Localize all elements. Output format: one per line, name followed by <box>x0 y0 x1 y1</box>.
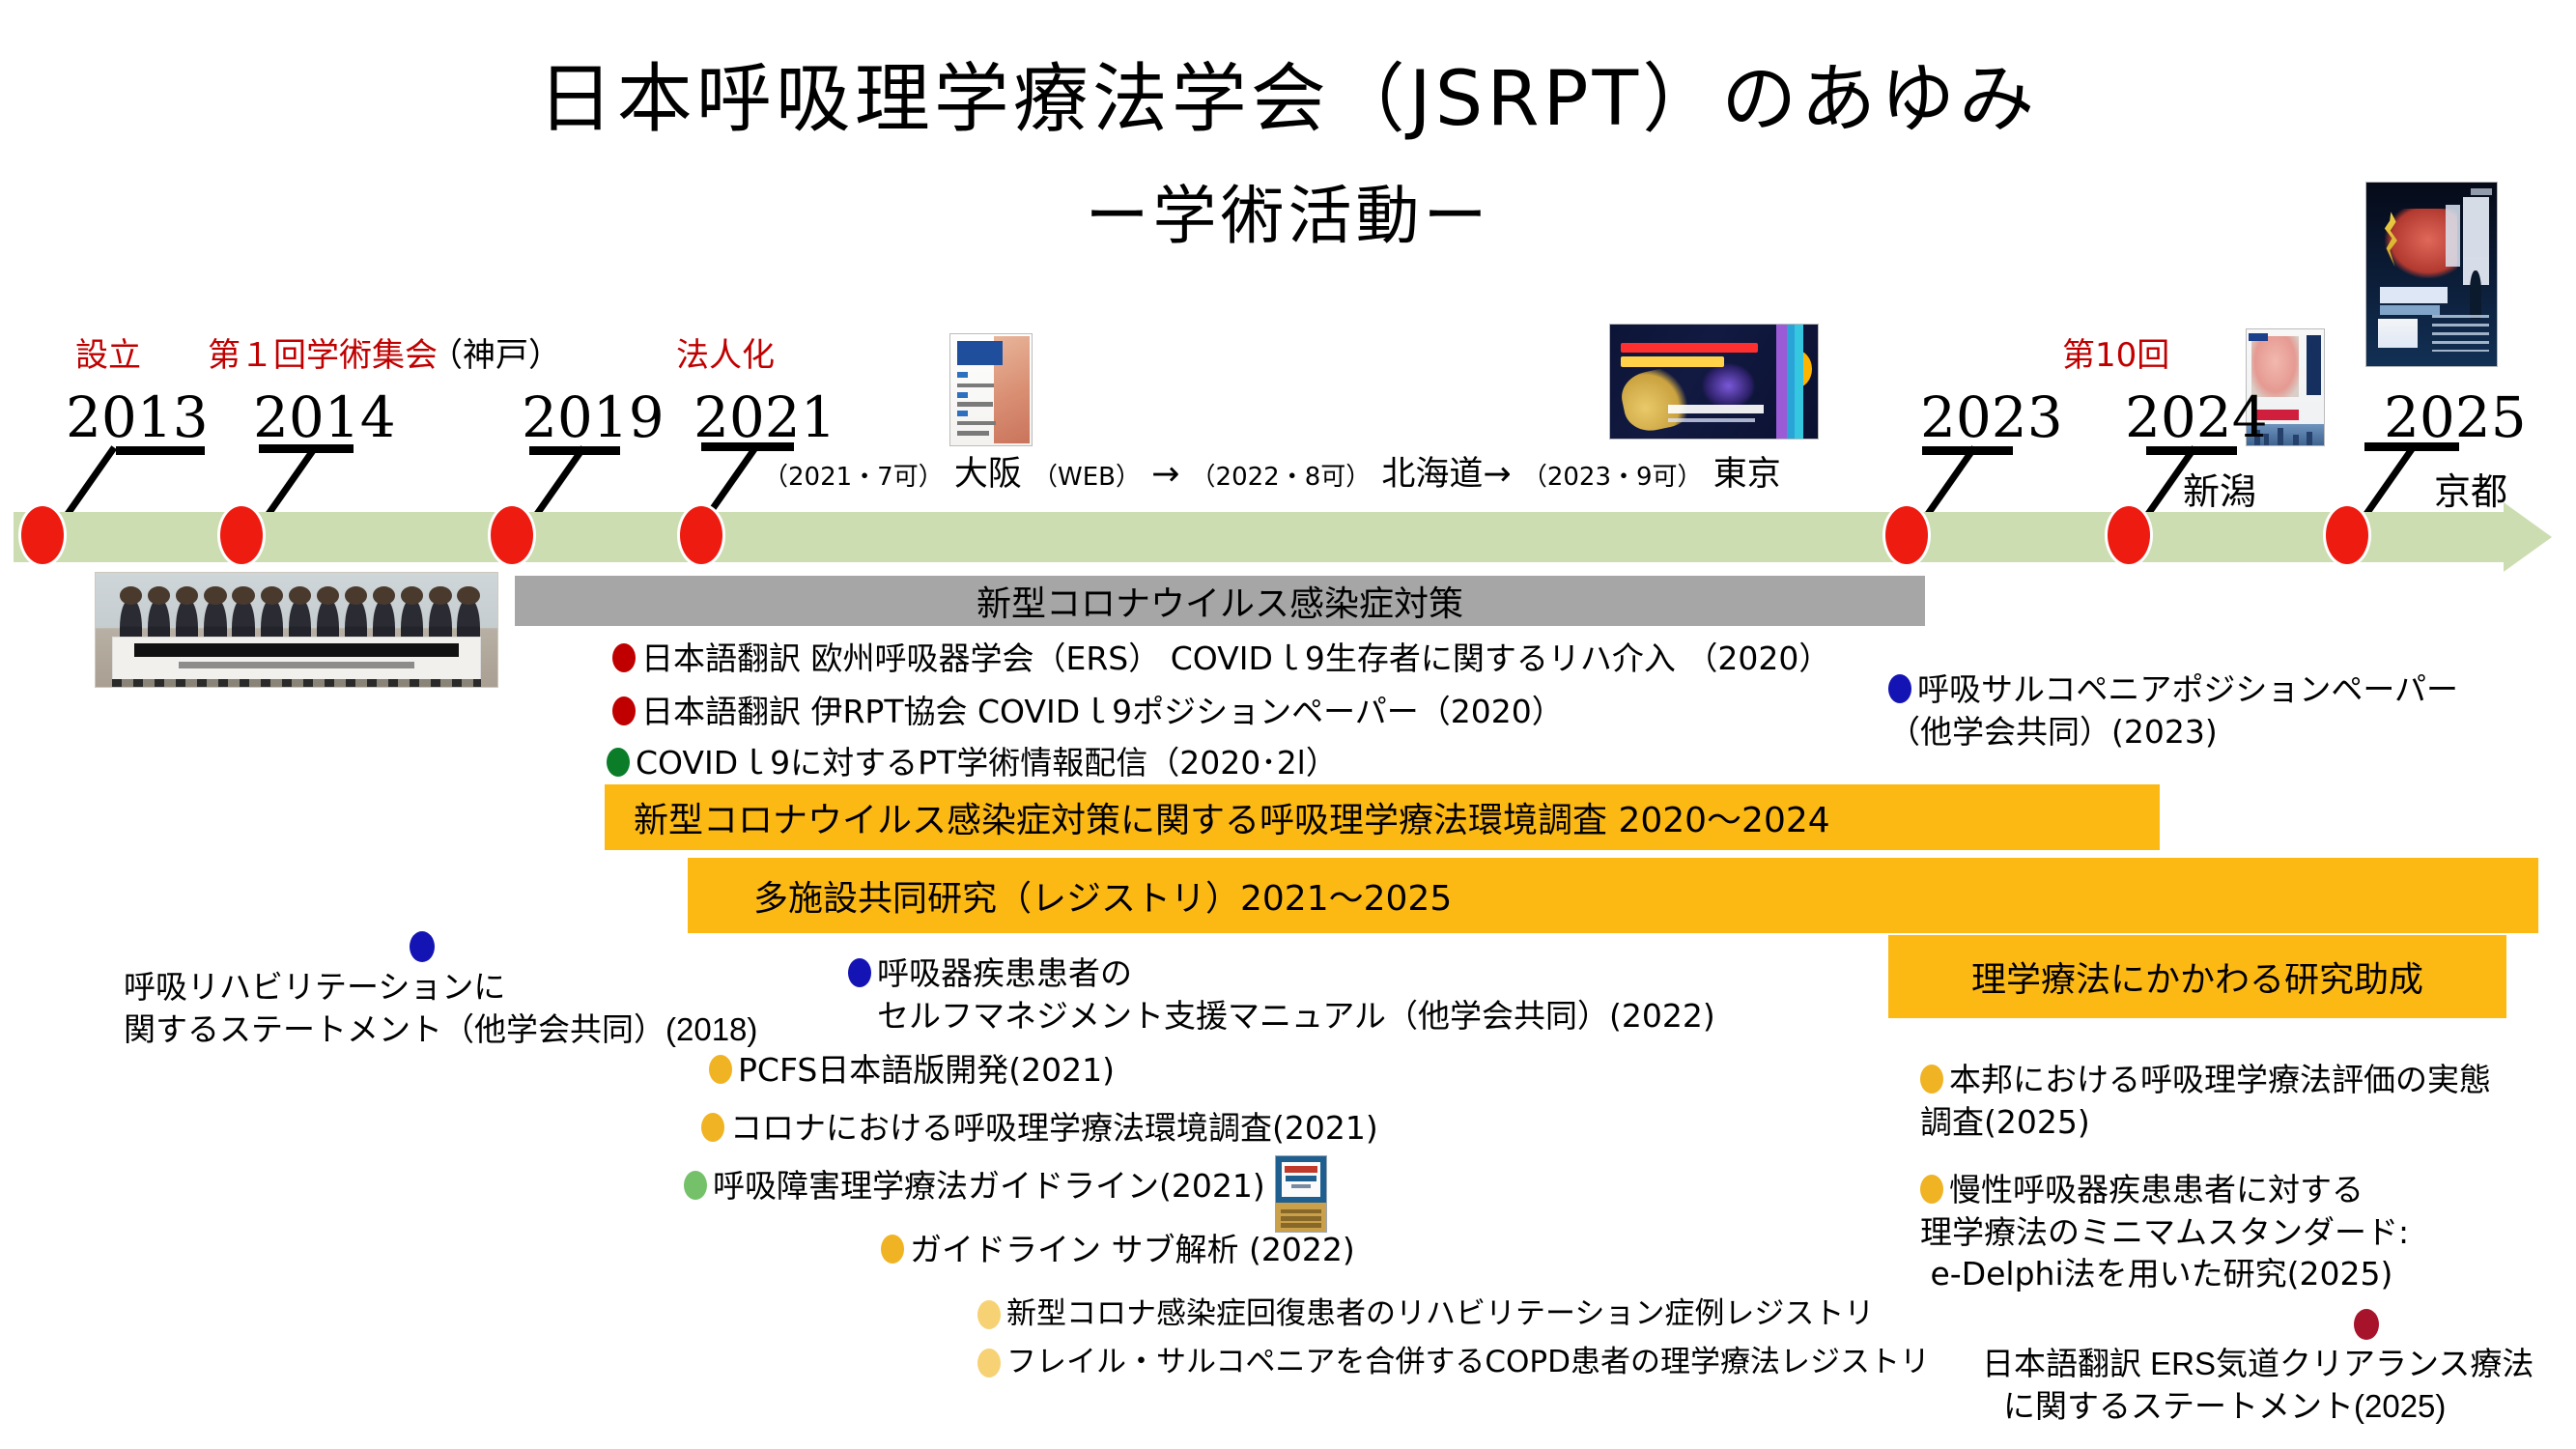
mid-list-item-4-label: 新型コロナ感染症回復患者のリハビリテーション症例レジストリ <box>1006 1294 1874 1334</box>
timeline-year-2023: 2023 <box>1920 384 2063 450</box>
timeline-year-2013: 2013 <box>66 384 209 450</box>
right-item-evaluation-survey-line2: 調査(2025) <box>1920 1101 2090 1144</box>
bullet-dot-green-icon <box>607 748 630 777</box>
slide-canvas: 日本呼吸理学療法学会（JSRPT）のあゆみ ー学術活動ー <box>0 0 2576 1449</box>
right-item-minimum-standard-line1: 慢性呼吸器疾患患者に対する <box>1949 1171 2364 1208</box>
mid-item-selfmanagement-line1: 呼吸器疾患患者の <box>877 954 1132 992</box>
timeline-event-2014-suffix: （神戸） <box>430 328 561 376</box>
covid-measures-bar-label: 新型コロナウイルス感染症対策 <box>977 576 1463 626</box>
registry-bar-label: 多施設共同研究（レジストリ）2021〜2025 <box>753 870 1452 921</box>
timeline-dot-2019[interactable] <box>491 506 533 564</box>
left-item-statement: 呼吸リハビリテーションに 関するステートメント（他学会共同）(2018) <box>124 966 757 1050</box>
mid-list-item-1: コロナにおける呼吸理学療法環境調査(2021) <box>701 1107 1378 1150</box>
venue-part-5: 北海道→ <box>1371 455 1522 494</box>
timeline-arrow-head-icon <box>2504 502 2552 572</box>
right-item-minimum-standard-line2: 理学療法のミニマムスタンダード: <box>1920 1211 2409 1254</box>
venue-part-7: 東京 <box>1703 455 1781 494</box>
timeline-event-2013: 設立 <box>75 328 141 376</box>
page-title-line1: 日本呼吸理学療法学会（JSRPT）のあゆみ <box>0 39 2576 147</box>
venue-part-6: （2023・9可） <box>1522 463 1703 492</box>
mid-item-selfmanagement: 呼吸器疾患患者の セルフマネジメント支援マニュアル（他学会共同）(2022) <box>848 952 1715 1037</box>
left-item-statement-dot <box>410 931 435 962</box>
bullet-dot-blue-icon <box>1888 674 1911 703</box>
covid-measures-bar: 新型コロナウイルス感染症対策 <box>515 576 1925 626</box>
venue-part-4: （2022・8可） <box>1191 463 1372 492</box>
mid-item-selfmanagement-line2: セルフマネジメント支援マニュアル（他学会共同）(2022) <box>877 997 1715 1035</box>
right-item-ers-airway-dot-icon <box>2354 1309 2379 1340</box>
left-item-statement-line2: 関するステートメント（他学会共同）(2018) <box>124 1011 757 1047</box>
timeline-dot-2013[interactable] <box>21 506 64 564</box>
bullet-dot-light-orange-icon <box>977 1300 1001 1329</box>
right-item-sarcopenia: 呼吸サルコペニアポジションペーパー （他学会共同）(2023) <box>1888 668 2458 753</box>
right-item-minimum-standard: 慢性呼吸器疾患患者に対する 理学療法のミニマムスタンダード: e-Delphi法… <box>1920 1169 2409 1295</box>
registry-bar: 多施設共同研究（レジストリ）2021〜2025 <box>688 858 2538 933</box>
right-item-sarcopenia-line2: （他学会共同）(2023) <box>1888 711 2218 753</box>
timeline-year-2019: 2019 <box>522 384 665 450</box>
timeline-year-2025: 2025 <box>2384 384 2527 450</box>
right-item-evaluation-survey: 本邦における呼吸理学療法評価の実態 調査(2025) <box>1920 1059 2491 1143</box>
timeline-dot-2024[interactable] <box>2108 506 2150 564</box>
mid-list-item-2: 呼吸障害理学療法ガイドライン(2021) <box>684 1165 1265 1207</box>
bullet-dot-orange-icon <box>1920 1065 1943 1094</box>
venue-part-1: 大阪 <box>944 455 1033 494</box>
leader-cap-2021 <box>701 442 794 451</box>
timeline-year-2021: 2021 <box>694 384 836 450</box>
venue-part-2: （WEB） <box>1033 463 1141 492</box>
mid-list-item-4: 新型コロナ感染症回復患者のリハビリテーション症例レジストリ <box>977 1294 1874 1334</box>
right-item-sarcopenia-label: 呼吸サルコペニアポジションペーパー （他学会共同）(2023) <box>1917 668 2458 753</box>
timeline-city-2025: 京都 <box>2434 462 2507 515</box>
right-item-evaluation-survey-line1: 本邦における呼吸理学療法評価の実態 <box>1949 1061 2491 1098</box>
venue-part-3: → <box>1141 455 1191 494</box>
mid-list-item-5-label: フレイル・サルコペニアを合併するCOPD患者の理学療法レジストリ <box>1006 1343 1930 1382</box>
left-item-statement-line1: 呼吸リハビリテーションに <box>124 969 505 1005</box>
bullet-dot-blue-icon <box>848 958 871 987</box>
bullet-dot-orange-icon <box>701 1113 724 1142</box>
grants-bar-label: 理学療法にかかわる研究助成 <box>1971 952 2423 1002</box>
covid-item-2-label: COVIDｌ9に対するPT学術情報配信（2020･2l） <box>636 742 1338 784</box>
timeline-event-2024: 第10回 <box>2062 328 2169 376</box>
bullet-dot-red-icon <box>612 643 636 672</box>
mid-list-item-0-label: PCFS日本語版開発(2021) <box>738 1049 1115 1092</box>
leader-cap-2013 <box>116 446 205 455</box>
bullet-dot-light-orange-icon <box>977 1349 1001 1378</box>
covid-item-0-label: 日本語翻訳 欧州呼吸器学会（ERS） COVIDｌ9生存者に関するリハ介入 （2… <box>641 638 1830 680</box>
mid-item-selfmanagement-label: 呼吸器疾患患者の セルフマネジメント支援マニュアル（他学会共同）(2022) <box>877 952 1715 1037</box>
timeline-year-2014: 2014 <box>253 384 396 450</box>
mid-list-item-2-label: 呼吸障害理学療法ガイドライン(2021) <box>713 1165 1265 1207</box>
env-survey-bar: 新型コロナウイルス感染症対策に関する呼吸理学療法環境調査 2020〜2024 <box>605 784 2160 850</box>
poster-2022-hokkaido-image <box>949 333 1033 446</box>
right-item-evaluation-survey-label: 本邦における呼吸理学療法評価の実態 調査(2025) <box>1949 1059 2491 1143</box>
timeline-venue-sequence: （2021・7可） 大阪 （WEB） → （2022・8可） 北海道→ （202… <box>763 446 1781 496</box>
mid-list-item-1-label: コロナにおける呼吸理学療法環境調査(2021) <box>730 1107 1378 1150</box>
first-congress-group-photo <box>95 572 498 688</box>
timeline-dot-2023[interactable] <box>1885 506 1928 564</box>
mid-list-item-3: ガイドライン サブ解析 (2022) <box>881 1229 1355 1271</box>
leader-cap-2014 <box>259 444 354 453</box>
right-item-ers-airway: 日本語翻訳 ERS気道クリアランス療法 に関するステートメント(2025) <box>1982 1343 2534 1427</box>
bullet-dot-orange-icon <box>1920 1175 1943 1204</box>
timeline-city-2024: 新潟 <box>2183 462 2256 515</box>
timeline-year-2024: 2024 <box>2125 384 2268 450</box>
timeline-dot-2014[interactable] <box>220 506 263 564</box>
covid-item-1-label: 日本語翻訳 伊RPT協会 COVIDｌ9ポジションペーパー（2020） <box>641 691 1564 733</box>
right-item-ers-airway-line2: に関するステートメント(2025) <box>2003 1385 2446 1428</box>
mid-list-item-5: フレイル・サルコペニアを合併するCOPD患者の理学療法レジストリ <box>977 1343 1930 1382</box>
mid-list-item-0: PCFS日本語版開発(2021) <box>709 1049 1115 1092</box>
right-item-sarcopenia-line1: 呼吸サルコペニアポジションペーパー <box>1917 670 2458 708</box>
timeline-event-2021: 法人化 <box>676 328 775 376</box>
guideline-book-thumbnail <box>1275 1155 1327 1233</box>
poster-2025-kyoto-image <box>2365 182 2498 367</box>
bullet-dot-light-green-icon <box>684 1171 707 1200</box>
covid-item-0: 日本語翻訳 欧州呼吸器学会（ERS） COVIDｌ9生存者に関するリハ介入 （2… <box>612 638 1830 680</box>
timeline-event-2014: 第１回学術集会 <box>208 328 438 376</box>
env-survey-bar-label: 新型コロナウイルス感染症対策に関する呼吸理学療法環境調査 2020〜2024 <box>634 792 1830 842</box>
venue-part-0: （2021・7可） <box>763 463 944 492</box>
covid-item-2: COVIDｌ9に対するPT学術情報配信（2020･2l） <box>607 742 1338 784</box>
timeline-dot-2025[interactable] <box>2326 506 2368 564</box>
right-item-ers-airway-line1: 日本語翻訳 ERS気道クリアランス療法 <box>1982 1346 2534 1381</box>
poster-2023-tokyo-image <box>1609 324 1819 440</box>
right-item-minimum-standard-line3: e-Delphi法を用いた研究(2025) <box>1920 1253 2392 1295</box>
grants-bar: 理学療法にかかわる研究助成 <box>1888 935 2506 1018</box>
bullet-dot-red-icon <box>612 696 636 725</box>
bullet-dot-orange-icon <box>709 1055 732 1084</box>
page-title-line2: ー学術活動ー <box>0 164 2576 257</box>
timeline-dot-2021[interactable] <box>680 506 722 564</box>
bullet-dot-orange-icon <box>881 1235 904 1264</box>
mid-list-item-3-label: ガイドライン サブ解析 (2022) <box>910 1229 1355 1271</box>
right-item-minimum-standard-label: 慢性呼吸器疾患患者に対する 理学療法のミニマムスタンダード: e-Delphi法… <box>1949 1169 2409 1295</box>
covid-item-1: 日本語翻訳 伊RPT協会 COVIDｌ9ポジションペーパー（2020） <box>612 691 1564 733</box>
